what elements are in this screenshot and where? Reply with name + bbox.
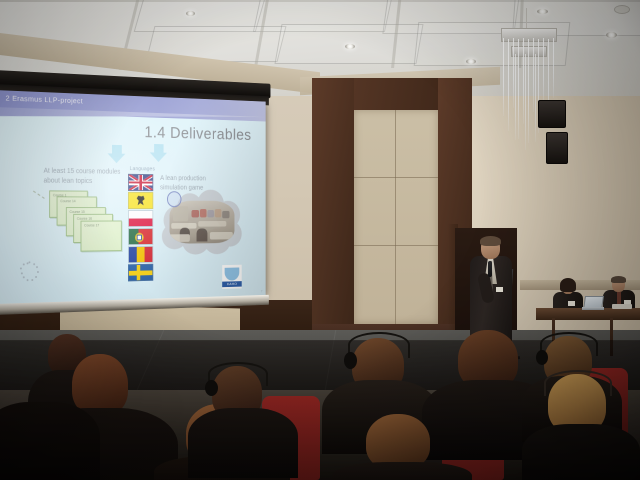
papers-on-table xyxy=(612,304,632,309)
audience-member xyxy=(344,414,460,480)
audience-member xyxy=(0,392,92,480)
wall-speaker-lower xyxy=(546,132,568,164)
presentation-slide: 2 Erasmus LLP-project 1.4 Deliverables L… xyxy=(0,90,266,304)
presenter-name-badge xyxy=(496,287,503,292)
ceiling-vent xyxy=(614,5,630,14)
ceiling-downlight xyxy=(186,11,195,16)
headset-band xyxy=(544,370,612,396)
highlight-circle-icon xyxy=(167,191,181,207)
laptop-keyboard xyxy=(582,307,604,310)
laptop[interactable] xyxy=(582,296,604,310)
audience-shoulders xyxy=(522,424,640,480)
kaho-logo: KAHO xyxy=(222,265,242,289)
slide-left-text: At least 15 course modules about lean to… xyxy=(44,167,128,188)
course-card-label: Course 17 xyxy=(84,223,99,227)
course-card-label: Course 14 xyxy=(60,199,75,203)
presentation-photo-scene: 2 Erasmus LLP-project 1.4 Deliverables L… xyxy=(0,0,640,480)
presenter-hair xyxy=(480,236,501,246)
headset-earcup xyxy=(536,350,548,365)
audience-shoulders xyxy=(0,402,100,480)
slide-page-number: 7 xyxy=(261,289,263,294)
microphone-icon xyxy=(488,261,492,277)
headset-band xyxy=(208,362,268,386)
ceiling-downlight xyxy=(345,44,355,49)
eu-stars-icon xyxy=(19,261,40,283)
languages-label: Languages xyxy=(130,166,155,172)
audience-shoulders xyxy=(188,408,298,478)
course-module-cards: Course 1 Course 14 Course 15 Course 16 C… xyxy=(40,188,140,257)
ceiling-downlight xyxy=(606,32,617,38)
projection-screen: 2 Erasmus LLP-project 1.4 Deliverables L… xyxy=(0,60,272,360)
course-card: Course 17 xyxy=(81,220,122,251)
headset-band xyxy=(540,332,598,356)
slide-title: 1.4 Deliverables xyxy=(144,123,251,145)
ceiling-downlight xyxy=(466,59,476,64)
headset-earcup xyxy=(205,380,218,396)
cloud-photo xyxy=(162,189,242,257)
headset-earcup xyxy=(344,352,357,369)
audience-member-headset xyxy=(196,360,286,470)
screen-surface: 2 Erasmus LLP-project 1.4 Deliverables L… xyxy=(0,90,266,304)
panelist-woman-badge xyxy=(568,301,575,306)
audience-shoulders xyxy=(332,462,472,480)
kaho-logo-text: KAHO xyxy=(222,281,242,287)
wall-speaker-upper xyxy=(538,100,566,128)
flag-sweden-icon xyxy=(128,264,153,282)
classroom-photo xyxy=(170,201,235,244)
panelist-woman-hair xyxy=(560,278,576,292)
panelist-man-hair xyxy=(611,276,626,283)
headset-band xyxy=(348,332,410,358)
slide-header-text: 2 Erasmus LLP-project xyxy=(6,93,83,105)
wall-inset-panel xyxy=(354,110,438,324)
audience-member-blonde-headset xyxy=(528,368,632,480)
